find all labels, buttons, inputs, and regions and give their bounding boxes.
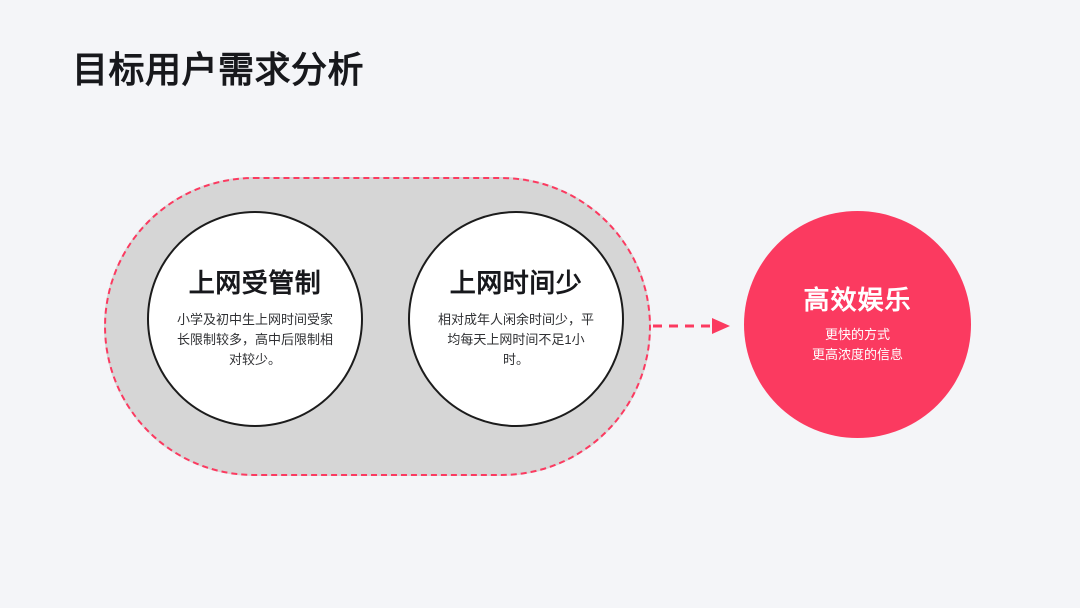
need-circle-1[interactable]: 上网受管制 小学及初中生上网时间受家长限制较多，高中后限制相对较少。 bbox=[147, 211, 363, 427]
result-heading: 高效娱乐 bbox=[803, 285, 911, 315]
slide-canvas: 目标用户需求分析 上网受管制 小学及初中生上网时间受家长限制较多，高中后限制相对… bbox=[0, 0, 1080, 608]
result-circle[interactable]: 高效娱乐 更快的方式 更高浓度的信息 bbox=[744, 211, 971, 438]
need-circle-2[interactable]: 上网时间少 相对成年人闲余时间少，平均每天上网时间不足1小时。 bbox=[408, 211, 624, 427]
need-circle-2-body: 相对成年人闲余时间少，平均每天上网时间不足1小时。 bbox=[435, 310, 597, 370]
dashed-arrow-right-icon bbox=[652, 314, 736, 338]
page-title: 目标用户需求分析 bbox=[72, 48, 364, 92]
need-circle-1-heading: 上网受管制 bbox=[189, 268, 322, 298]
result-sub-line-1: 更快的方式 bbox=[825, 325, 890, 345]
need-circle-2-heading: 上网时间少 bbox=[450, 268, 583, 298]
need-circle-1-body: 小学及初中生上网时间受家长限制较多，高中后限制相对较少。 bbox=[174, 310, 336, 370]
result-sub-line-2: 更高浓度的信息 bbox=[812, 345, 903, 365]
